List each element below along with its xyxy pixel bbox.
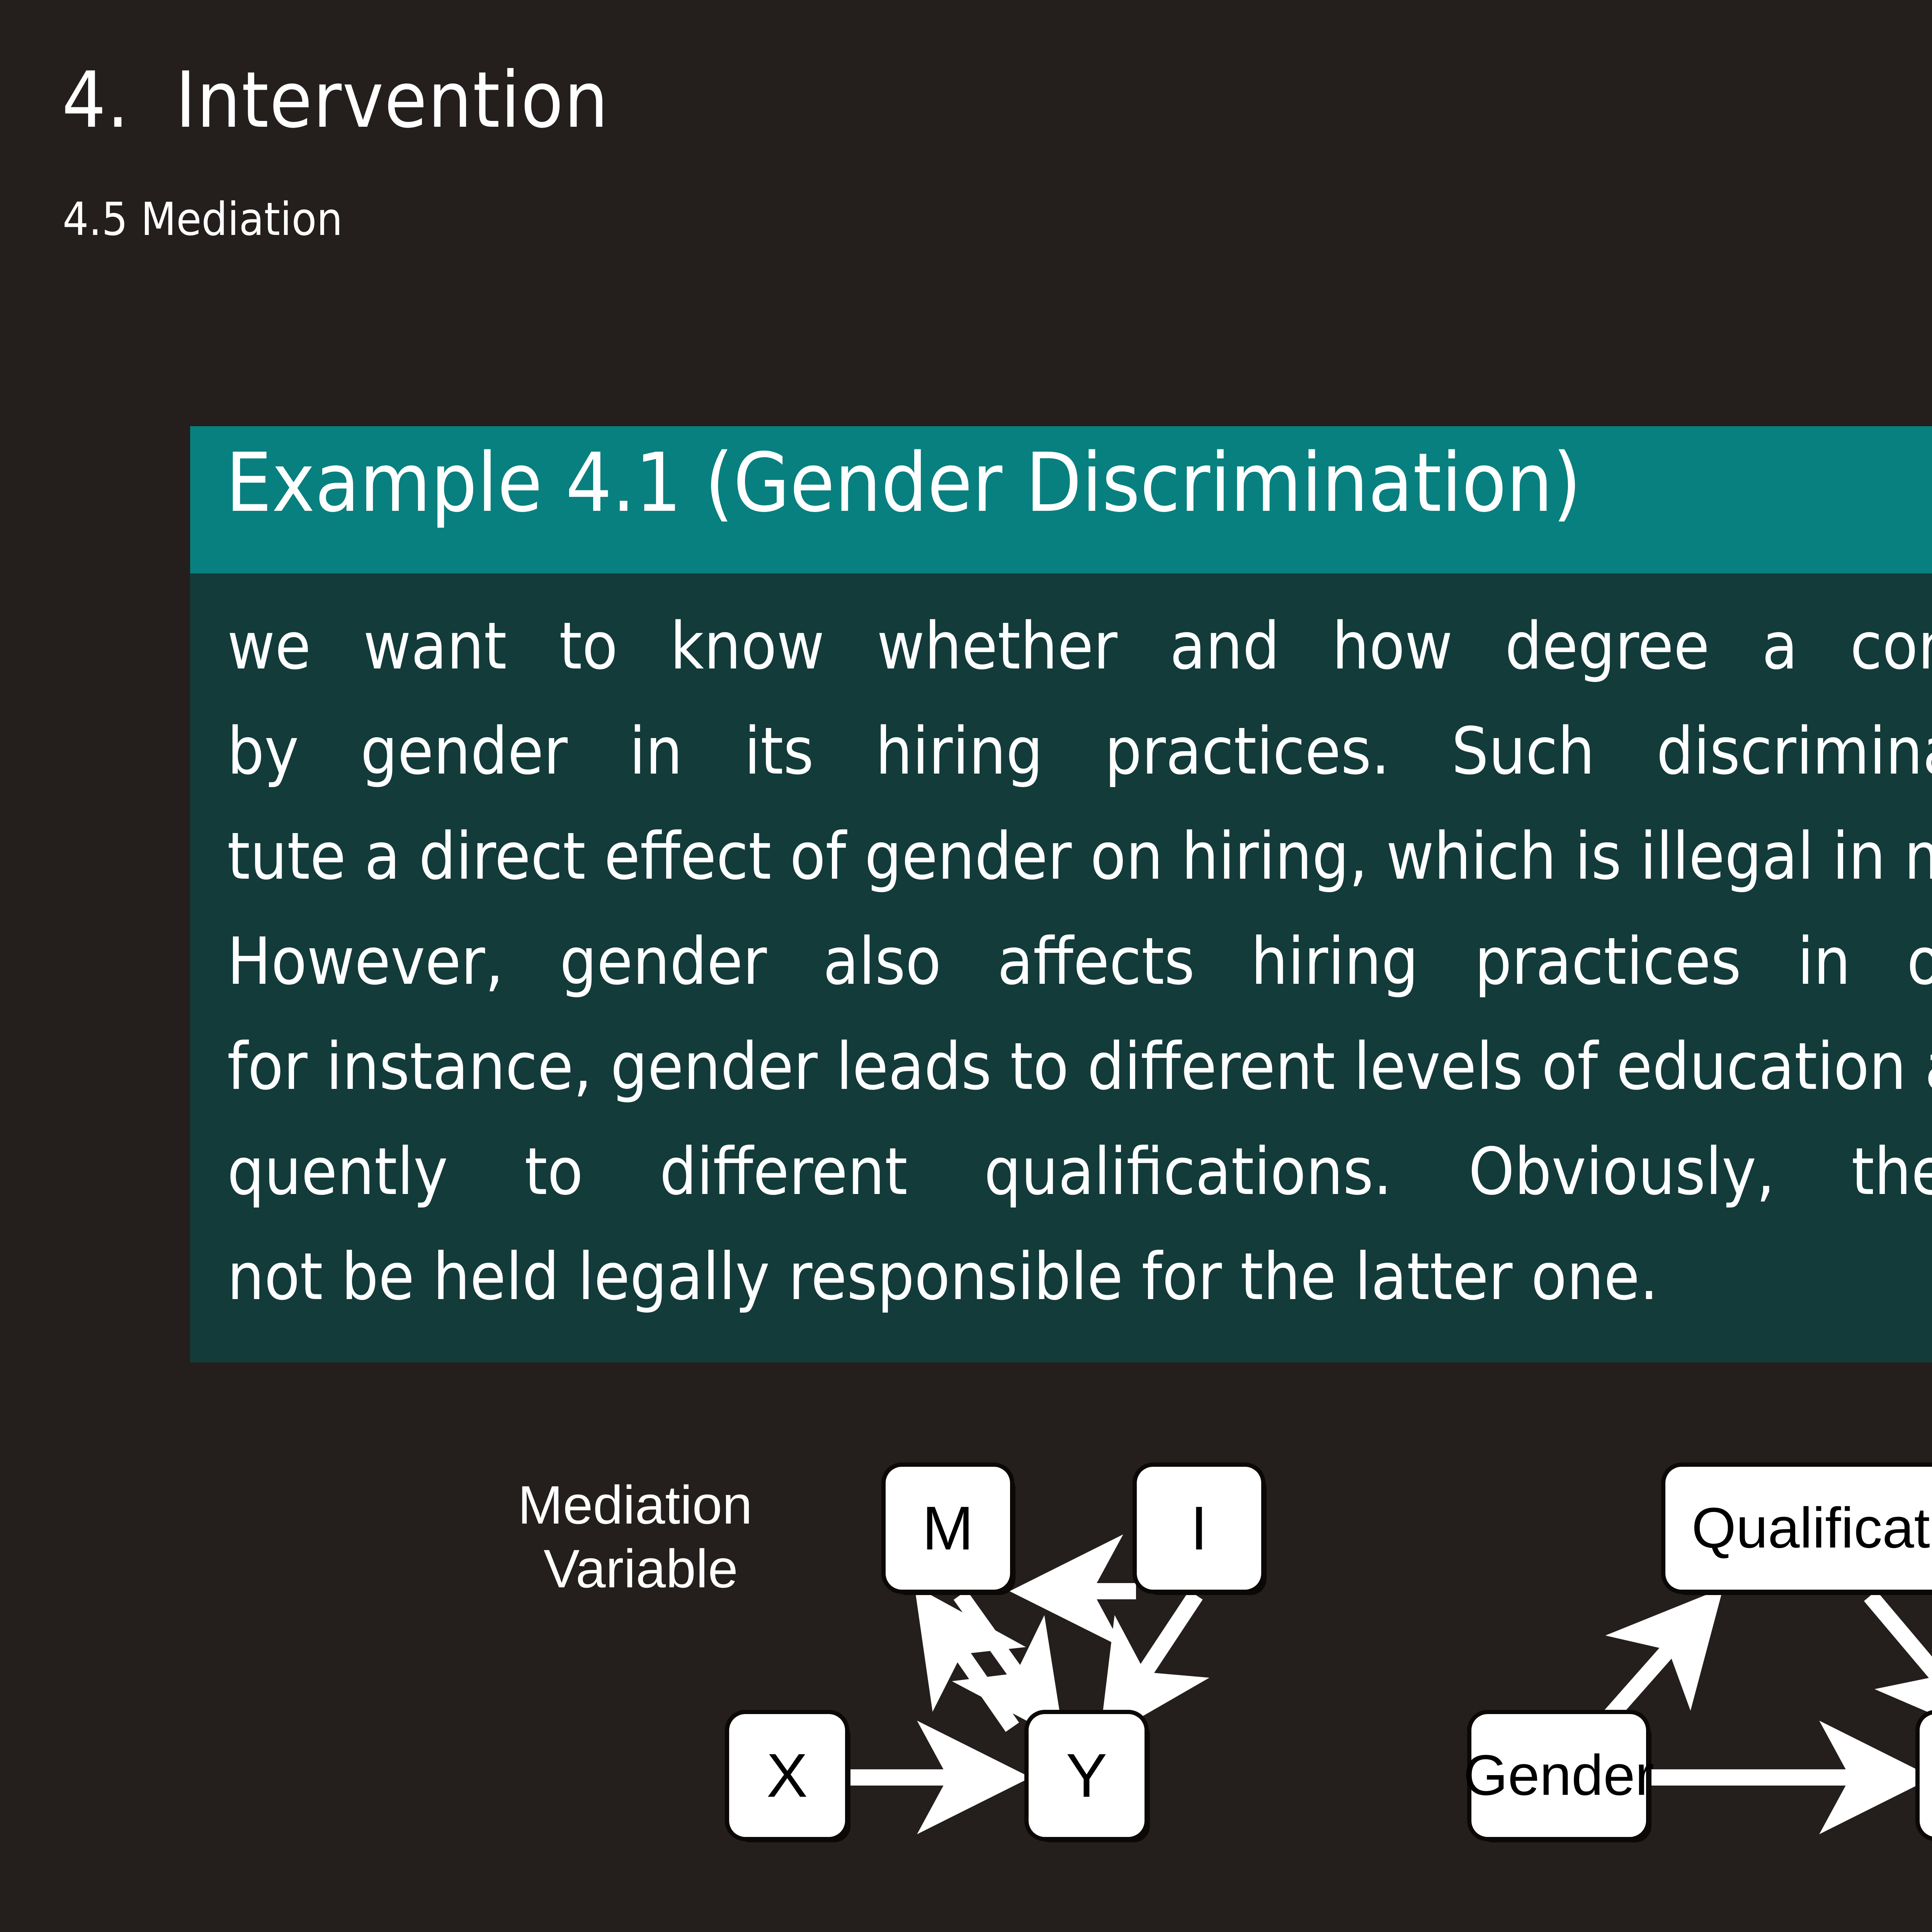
node-x[interactable]: X: [729, 1714, 845, 1837]
node-m-label: M: [922, 1493, 973, 1564]
diagram-gender-hiring: Qualification Gender Hiring: [1461, 1453, 1932, 1862]
mediation-variable-label: Mediation Variable: [518, 1473, 738, 1600]
node-i[interactable]: I: [1137, 1467, 1261, 1590]
edge-gender-to-qualification: [1604, 1607, 1706, 1723]
example-block: Example 4.1 (Gender Discrimination) wewa…: [190, 426, 1932, 1362]
edge-i-to-y: [1114, 1595, 1196, 1719]
mediation-variable-label-line1: Mediation: [518, 1473, 738, 1537]
edge-x-to-m: [929, 1607, 1012, 1727]
node-gender-label: Gender: [1463, 1743, 1654, 1808]
node-y-label: Y: [1066, 1740, 1107, 1811]
node-qualification[interactable]: Qualification: [1665, 1467, 1932, 1590]
node-x-label: X: [767, 1740, 808, 1811]
node-gender[interactable]: Gender: [1471, 1714, 1646, 1837]
body-line: not be held legally responsible for the …: [227, 1224, 1932, 1329]
body-line: tute a direct effect of gender on hiring…: [227, 804, 1932, 909]
edge-qualification-to-hiring: [1870, 1596, 1932, 1719]
body-line: for instance, gender leads to different …: [227, 1014, 1932, 1119]
body-line: bygenderinitshiringpractices.Suchdiscrim…: [227, 699, 1932, 804]
body-line: However,genderalsoaffectshiringpractices…: [227, 909, 1932, 1014]
node-m[interactable]: M: [886, 1467, 1010, 1590]
body-line: quentlytodifferentqualifications.Obvious…: [227, 1119, 1932, 1224]
node-hiring[interactable]: Hiring: [1920, 1714, 1932, 1837]
example-block-title: Example 4.1 (Gender Discrimination): [226, 442, 1932, 524]
node-qualification-label: Qualification: [1692, 1495, 1932, 1561]
node-i-label: I: [1190, 1493, 1207, 1564]
body-line: wewanttoknowwhetherandhowdegreeacompanyd…: [227, 594, 1932, 699]
diagram-generic-mediation: Mediation Variable M I X Y: [560, 1453, 1294, 1862]
page-subtitle: 4.5 Mediation: [63, 196, 343, 242]
page-title: 4. Intervention: [62, 62, 609, 139]
node-y[interactable]: Y: [1029, 1714, 1145, 1837]
example-block-body: wewanttoknowwhetherandhowdegreeacompanyd…: [190, 573, 1932, 1362]
example-block-header: Example 4.1 (Gender Discrimination): [190, 426, 1932, 573]
mediation-variable-label-line2: Variable: [518, 1537, 738, 1600]
beamer-slide: 4. Intervention 4.5 Mediation Example 4.…: [0, 0, 1932, 1932]
